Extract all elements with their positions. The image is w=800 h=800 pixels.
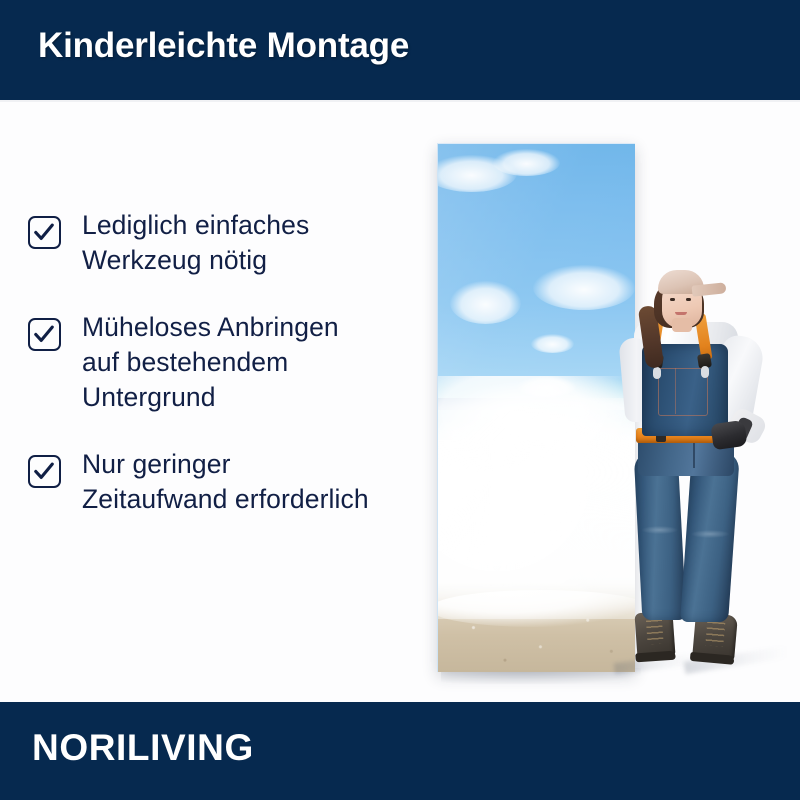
eye-left bbox=[670, 298, 675, 301]
feature-text-3: Nur geringer Zeitaufwand erforderlich bbox=[82, 447, 369, 517]
checkbox-checked-2[interactable] bbox=[28, 318, 61, 351]
work-glove bbox=[710, 420, 747, 450]
cap-brim bbox=[692, 282, 727, 296]
mouth bbox=[675, 312, 687, 315]
neck bbox=[672, 318, 692, 332]
cloud-icon bbox=[450, 281, 521, 323]
sand-texture bbox=[438, 598, 635, 672]
checkmark-icon bbox=[33, 221, 55, 243]
product-panel-beach-print bbox=[437, 143, 635, 672]
feature-line: Müheloses Anbringen bbox=[82, 310, 339, 345]
feature-line: Zeitaufwand erforderlich bbox=[82, 482, 369, 517]
header-divider bbox=[0, 100, 800, 102]
checkbox-checked-1[interactable] bbox=[28, 216, 61, 249]
feature-text-1: Lediglich einfaches Werkzeug nötig bbox=[82, 208, 309, 278]
jeans-leg-right bbox=[680, 452, 740, 622]
feature-item-1: Lediglich einfaches Werkzeug nötig bbox=[28, 208, 428, 278]
boot-laces bbox=[705, 622, 725, 647]
feature-item-2: Müheloses Anbringen auf bestehendem Unte… bbox=[28, 310, 428, 415]
feature-line: Untergrund bbox=[82, 380, 339, 415]
strap-hook-right bbox=[701, 366, 709, 378]
worker-figure bbox=[612, 262, 787, 672]
strap-hook-left bbox=[653, 367, 661, 379]
feature-line: Werkzeug nötig bbox=[82, 243, 309, 278]
boot-laces bbox=[646, 620, 664, 645]
checkbox-checked-3[interactable] bbox=[28, 455, 61, 488]
knee-crease bbox=[691, 530, 730, 538]
feature-line: Lediglich einfaches bbox=[82, 208, 309, 243]
page-title: Kinderleichte Montage bbox=[38, 26, 409, 66]
feature-item-3: Nur geringer Zeitaufwand erforderlich bbox=[28, 447, 428, 517]
feature-text-2: Müheloses Anbringen auf bestehendem Unte… bbox=[82, 310, 339, 415]
checkmark-icon bbox=[33, 323, 55, 345]
knee-crease bbox=[642, 526, 678, 534]
eye-right bbox=[686, 298, 691, 301]
promo-infographic: Kinderleichte Montage Lediglich einfache… bbox=[0, 0, 800, 800]
feature-list: Lediglich einfaches Werkzeug nötig Mühel… bbox=[28, 208, 428, 549]
feature-line: Nur geringer bbox=[82, 447, 369, 482]
cloud-icon bbox=[493, 149, 560, 175]
brand-logo-text: NORILIVING bbox=[32, 727, 254, 769]
checkmark-icon bbox=[33, 460, 55, 482]
jeans-leg-left bbox=[634, 452, 687, 620]
cloud-icon bbox=[531, 334, 574, 352]
feature-line: auf bestehendem bbox=[82, 345, 339, 380]
overalls-pocket-seam bbox=[675, 368, 677, 414]
